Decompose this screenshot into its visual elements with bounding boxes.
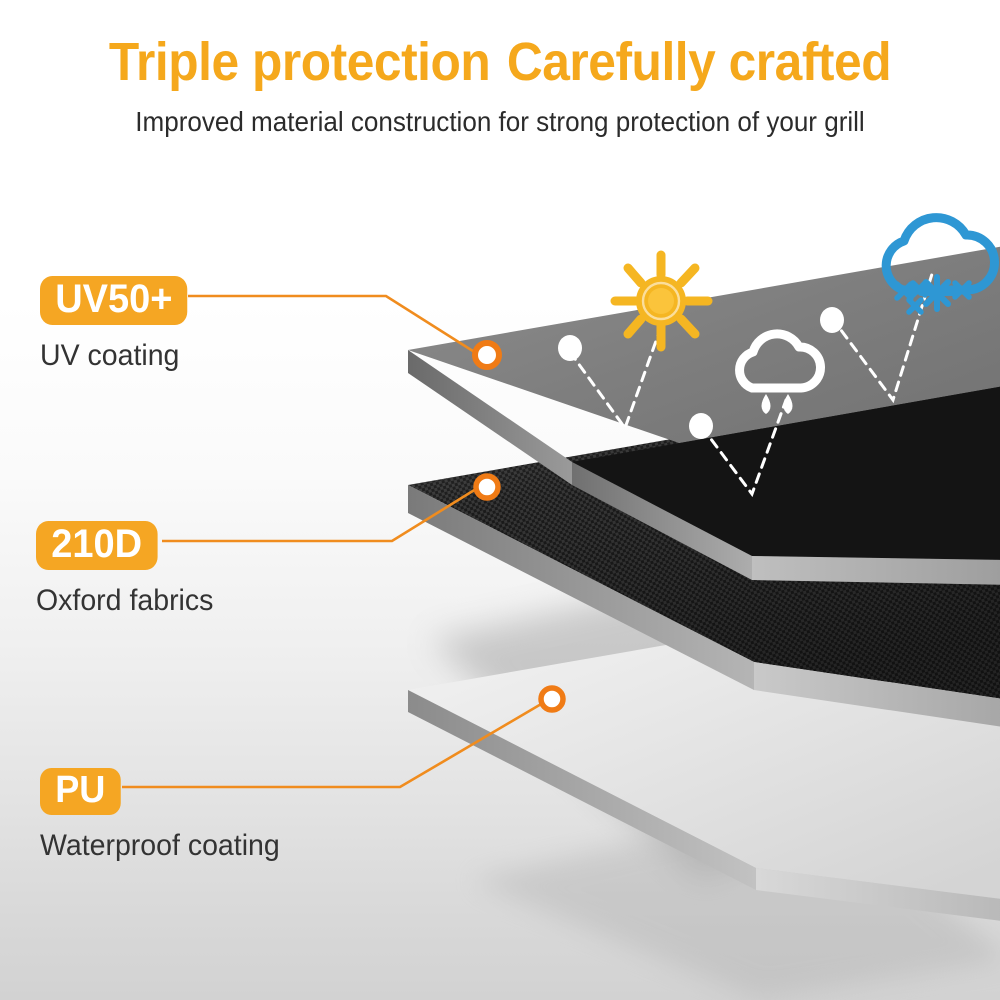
reflection-dot-3 [689, 413, 713, 439]
callout-marker-uv[interactable] [475, 343, 499, 367]
reflection-dot-2 [820, 307, 844, 333]
sun-icon [615, 255, 708, 347]
callout-oxford-fabrics: 210D Oxford fabrics [36, 521, 223, 618]
badge-uv50: UV50+ [40, 276, 188, 325]
caption-waterproof-coating: Waterproof coating [40, 829, 280, 863]
reflection-dot-1 [558, 335, 582, 361]
connector-line-uv [188, 296, 476, 353]
callout-uv-coating: UV50+ UV coating [40, 276, 195, 373]
badge-210d: 210D [36, 521, 157, 570]
callout-marker-pu[interactable] [541, 688, 563, 710]
caption-uv-coating: UV coating [40, 339, 188, 373]
uv-layer-edge-right [752, 556, 1000, 585]
callout-marker-oxford[interactable] [476, 476, 498, 498]
callout-pu-coating: PU Waterproof coating [40, 768, 292, 863]
caption-oxford-fabrics: Oxford fabrics [36, 584, 213, 618]
infographic-page: Triple protectionCarefully crafted Impro… [0, 0, 1000, 1000]
badge-pu: PU [40, 768, 121, 815]
